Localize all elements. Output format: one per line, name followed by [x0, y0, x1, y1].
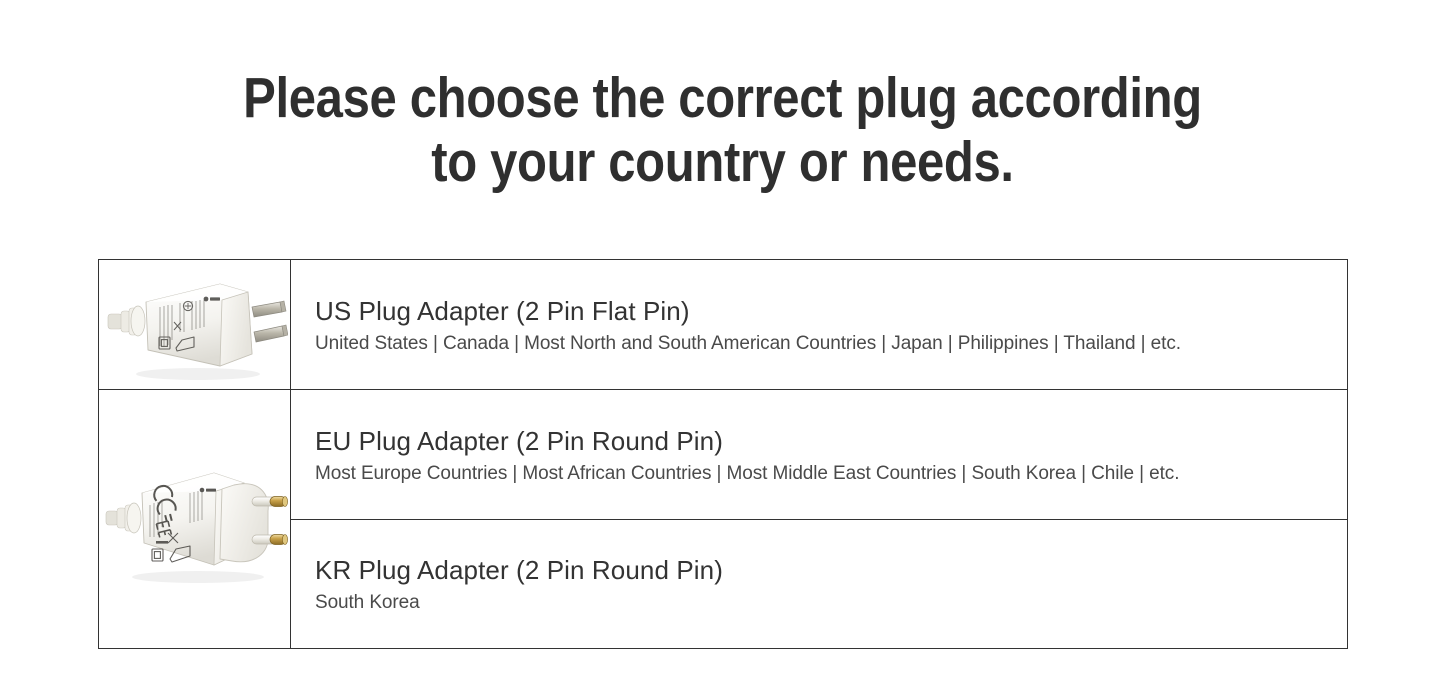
us-adapter-image-cell [99, 260, 290, 390]
kr-adapter-row: KR Plug Adapter (2 Pin Round Pin) South … [291, 520, 1347, 648]
cable-gland [108, 306, 145, 336]
kr-adapter-regions: South Korea [315, 590, 1347, 615]
eu-adapter-row: EU Plug Adapter (2 Pin Round Pin) Most E… [291, 390, 1347, 520]
page-title: Please choose the correct plug according… [101, 66, 1344, 194]
page-title-line-1: Please choose the correct plug according [101, 66, 1344, 130]
us-plug-adapter-image [102, 262, 288, 388]
adapter-text-column: US Plug Adapter (2 Pin Flat Pin) United … [291, 260, 1347, 648]
kr-adapter-title: KR Plug Adapter (2 Pin Round Pin) [315, 553, 1347, 587]
eu-adapter-title: EU Plug Adapter (2 Pin Round Pin) [315, 424, 1347, 458]
adapter-image-column [99, 260, 291, 648]
us-adapter-regions: United States | Canada | Most North and … [315, 331, 1347, 356]
cable-gland [106, 503, 141, 533]
eu-adapter-regions: Most Europe Countries | Most African Cou… [315, 461, 1347, 486]
us-flat-pins [252, 301, 288, 342]
plug-adapter-table: US Plug Adapter (2 Pin Flat Pin) United … [98, 259, 1348, 649]
page-title-line-2: to your country or needs. [101, 130, 1344, 194]
us-adapter-row: US Plug Adapter (2 Pin Flat Pin) United … [291, 260, 1347, 390]
eu-adapter-image-cell [99, 390, 290, 648]
eu-plug-adapter-image [102, 449, 288, 589]
us-adapter-title: US Plug Adapter (2 Pin Flat Pin) [315, 294, 1347, 328]
